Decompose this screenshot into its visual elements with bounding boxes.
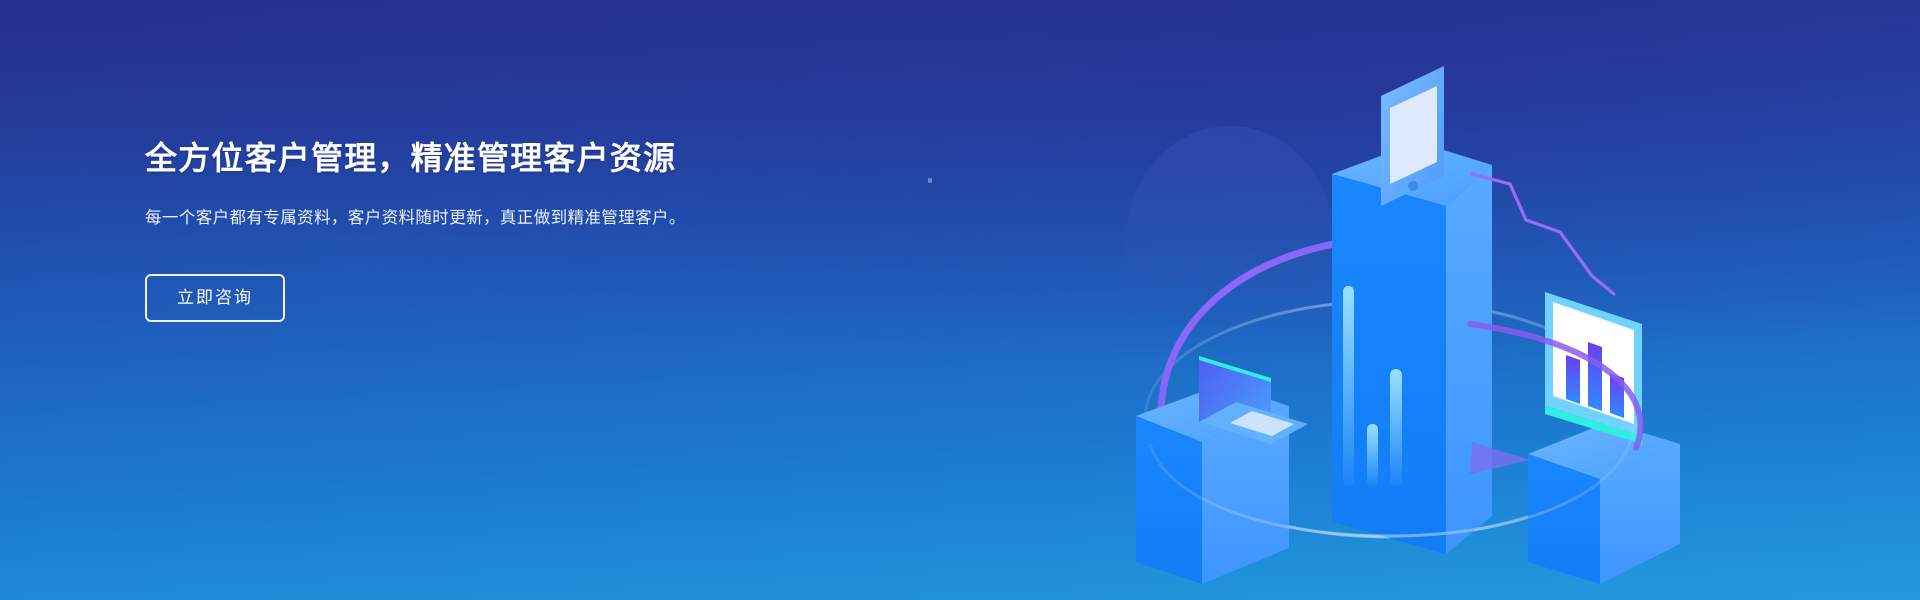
- hero-subtitle: 每一个客户都有专属资料，客户资料随时更新，真正做到精准管理客户。: [145, 205, 723, 232]
- inner-bar-3: [1390, 369, 1402, 486]
- background-dome-shape: [1125, 126, 1335, 324]
- monitor-bar-2: [1588, 342, 1602, 411]
- pillar-center: [1332, 142, 1492, 554]
- inner-bar-1: [1343, 286, 1354, 486]
- pillar-right: [1528, 422, 1680, 584]
- monitor-device: [1545, 292, 1642, 444]
- hero-copy-block: 全方位客户管理，精准管理客户资源 每一个客户都有专属资料，客户资料随时更新，真正…: [145, 138, 785, 322]
- sparkle-dot-icon: [928, 178, 932, 183]
- pillar-center-side: [1446, 165, 1492, 554]
- page-title: 全方位客户管理，精准管理客户资源: [145, 138, 785, 179]
- isometric-scene-svg: [1040, 24, 1800, 584]
- monitor-bar-1: [1566, 355, 1580, 404]
- hero-banner: 全方位客户管理，精准管理客户资源 每一个客户都有专属资料，客户资料随时更新，真正…: [0, 0, 1920, 600]
- arrow-head-right-icon: [1470, 442, 1530, 474]
- consult-now-button[interactable]: 立即咨询: [145, 274, 285, 322]
- inner-bar-2: [1367, 424, 1378, 486]
- pillar-left-front: [1136, 416, 1202, 584]
- connector-polyline: [1472, 174, 1614, 294]
- tablet-home-button-icon: [1408, 181, 1418, 191]
- hero-illustration: [1040, 24, 1800, 584]
